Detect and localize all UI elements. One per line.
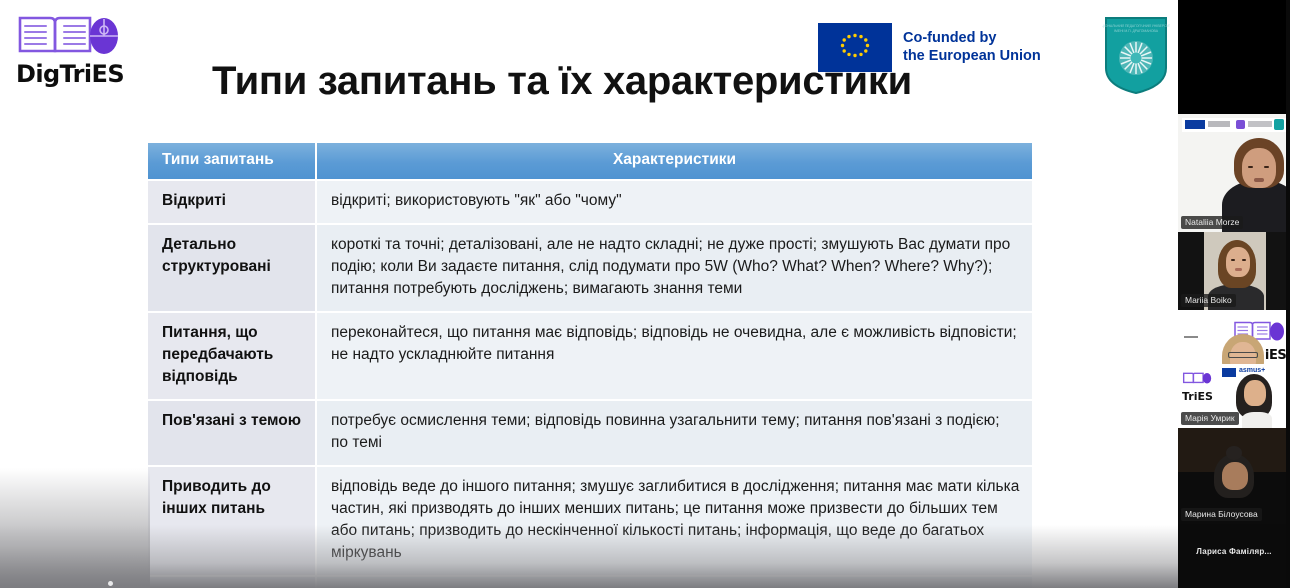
participant-video-strip[interactable]: Nataliia Morze Mariia Boiko: [1178, 0, 1290, 588]
participant-name: Марія Умрик: [1181, 412, 1239, 425]
cell-description: відповідь веде до іншого питання; змушує…: [316, 466, 1032, 576]
svg-text:НАЦІОНАЛЬНИЙ ПЕДАГОГІЧНИЙ УНІВ: НАЦІОНАЛЬНИЙ ПЕДАГОГІЧНИЙ УНІВЕРСИТЕТ: [1102, 24, 1170, 28]
table-row: Мозковий штурм питання, які призводять д…: [148, 576, 1032, 588]
cell-description: короткі та точні; деталізовані, але не н…: [316, 224, 1032, 312]
shared-slide: DigTriES Co-funded by: [0, 0, 1178, 588]
question-types-table: Типи запитань Характеристики Відкриті ві…: [148, 143, 1032, 588]
cell-category: Пов'язані з темою: [148, 400, 316, 466]
participant-tile[interactable]: TriES asmus+ Марія Умрик: [1178, 364, 1290, 428]
tries-wordmark: TriES: [1182, 390, 1213, 403]
brand-name: DigTriES: [14, 62, 134, 86]
column-header-characteristics: Характеристики: [316, 143, 1032, 180]
participant-name: Марина Білоусова: [1181, 508, 1262, 521]
cell-category: Мозковий штурм: [148, 576, 316, 588]
cell-description: відкриті; використовують "як" або "чому": [316, 180, 1032, 224]
participant-tile[interactable]: Mariia Boiko: [1178, 232, 1290, 310]
cell-description: переконайтеся, що питання має відповідь;…: [316, 312, 1032, 400]
slide-corner-dot: [108, 581, 113, 586]
cell-description: питання, які призводять до створення кар…: [316, 576, 1032, 588]
eu-text-line1: Co-funded by: [903, 30, 1041, 48]
participant-name: Лариса Фаміляр...: [1192, 546, 1275, 558]
brand-logo: DigTriES: [14, 6, 134, 86]
column-header-type: Типи запитань: [148, 143, 316, 180]
partner-shield-icon: НАЦІОНАЛЬНИЙ ПЕДАГОГІЧНИЙ УНІВЕРСИТЕТ ІМ…: [1102, 14, 1170, 96]
table-row: Питання, що передбачають відповідь перек…: [148, 312, 1032, 400]
cell-category: Приводить до інших питань: [148, 466, 316, 576]
participant-tile[interactable]: Лариса Фаміляр...: [1178, 524, 1290, 588]
digtries-book-mouse-icon: [14, 6, 122, 64]
participant-tile[interactable]: Nataliia Morze: [1178, 114, 1290, 232]
table-row: Детально структуровані короткі та точні;…: [148, 224, 1032, 312]
table-row: Приводить до інших питань відповідь веде…: [148, 466, 1032, 576]
svg-text:ІМЕНІ М.П. ДРАГОМАНОВА: ІМЕНІ М.П. ДРАГОМАНОВА: [1114, 29, 1159, 33]
screen-root: DigTriES Co-funded by: [0, 0, 1290, 588]
participant-tile[interactable]: Марина Білоусова: [1178, 428, 1290, 524]
participant-name: Nataliia Morze: [1181, 216, 1243, 229]
table-row: Відкриті відкриті; використовують "як" а…: [148, 180, 1032, 224]
slide-title: Типи запитань та їх характеристики: [212, 60, 1042, 102]
table-row: Пов'язані з темою потребує осмислення те…: [148, 400, 1032, 466]
slide-bottom-left-fade: [0, 468, 150, 588]
cell-category: Детально структуровані: [148, 224, 316, 312]
erasmus-wordmark: asmus+: [1239, 367, 1265, 374]
participant-name: Mariia Boiko: [1181, 294, 1236, 307]
cell-category: Питання, що передбачають відповідь: [148, 312, 316, 400]
cell-category: Відкриті: [148, 180, 316, 224]
table-header-row: Типи запитань Характеристики: [148, 143, 1032, 180]
digtries-book-mouse-icon: [1182, 368, 1212, 388]
cell-description: потребує осмислення теми; відповідь пови…: [316, 400, 1032, 466]
panel-edge: [1286, 0, 1290, 588]
